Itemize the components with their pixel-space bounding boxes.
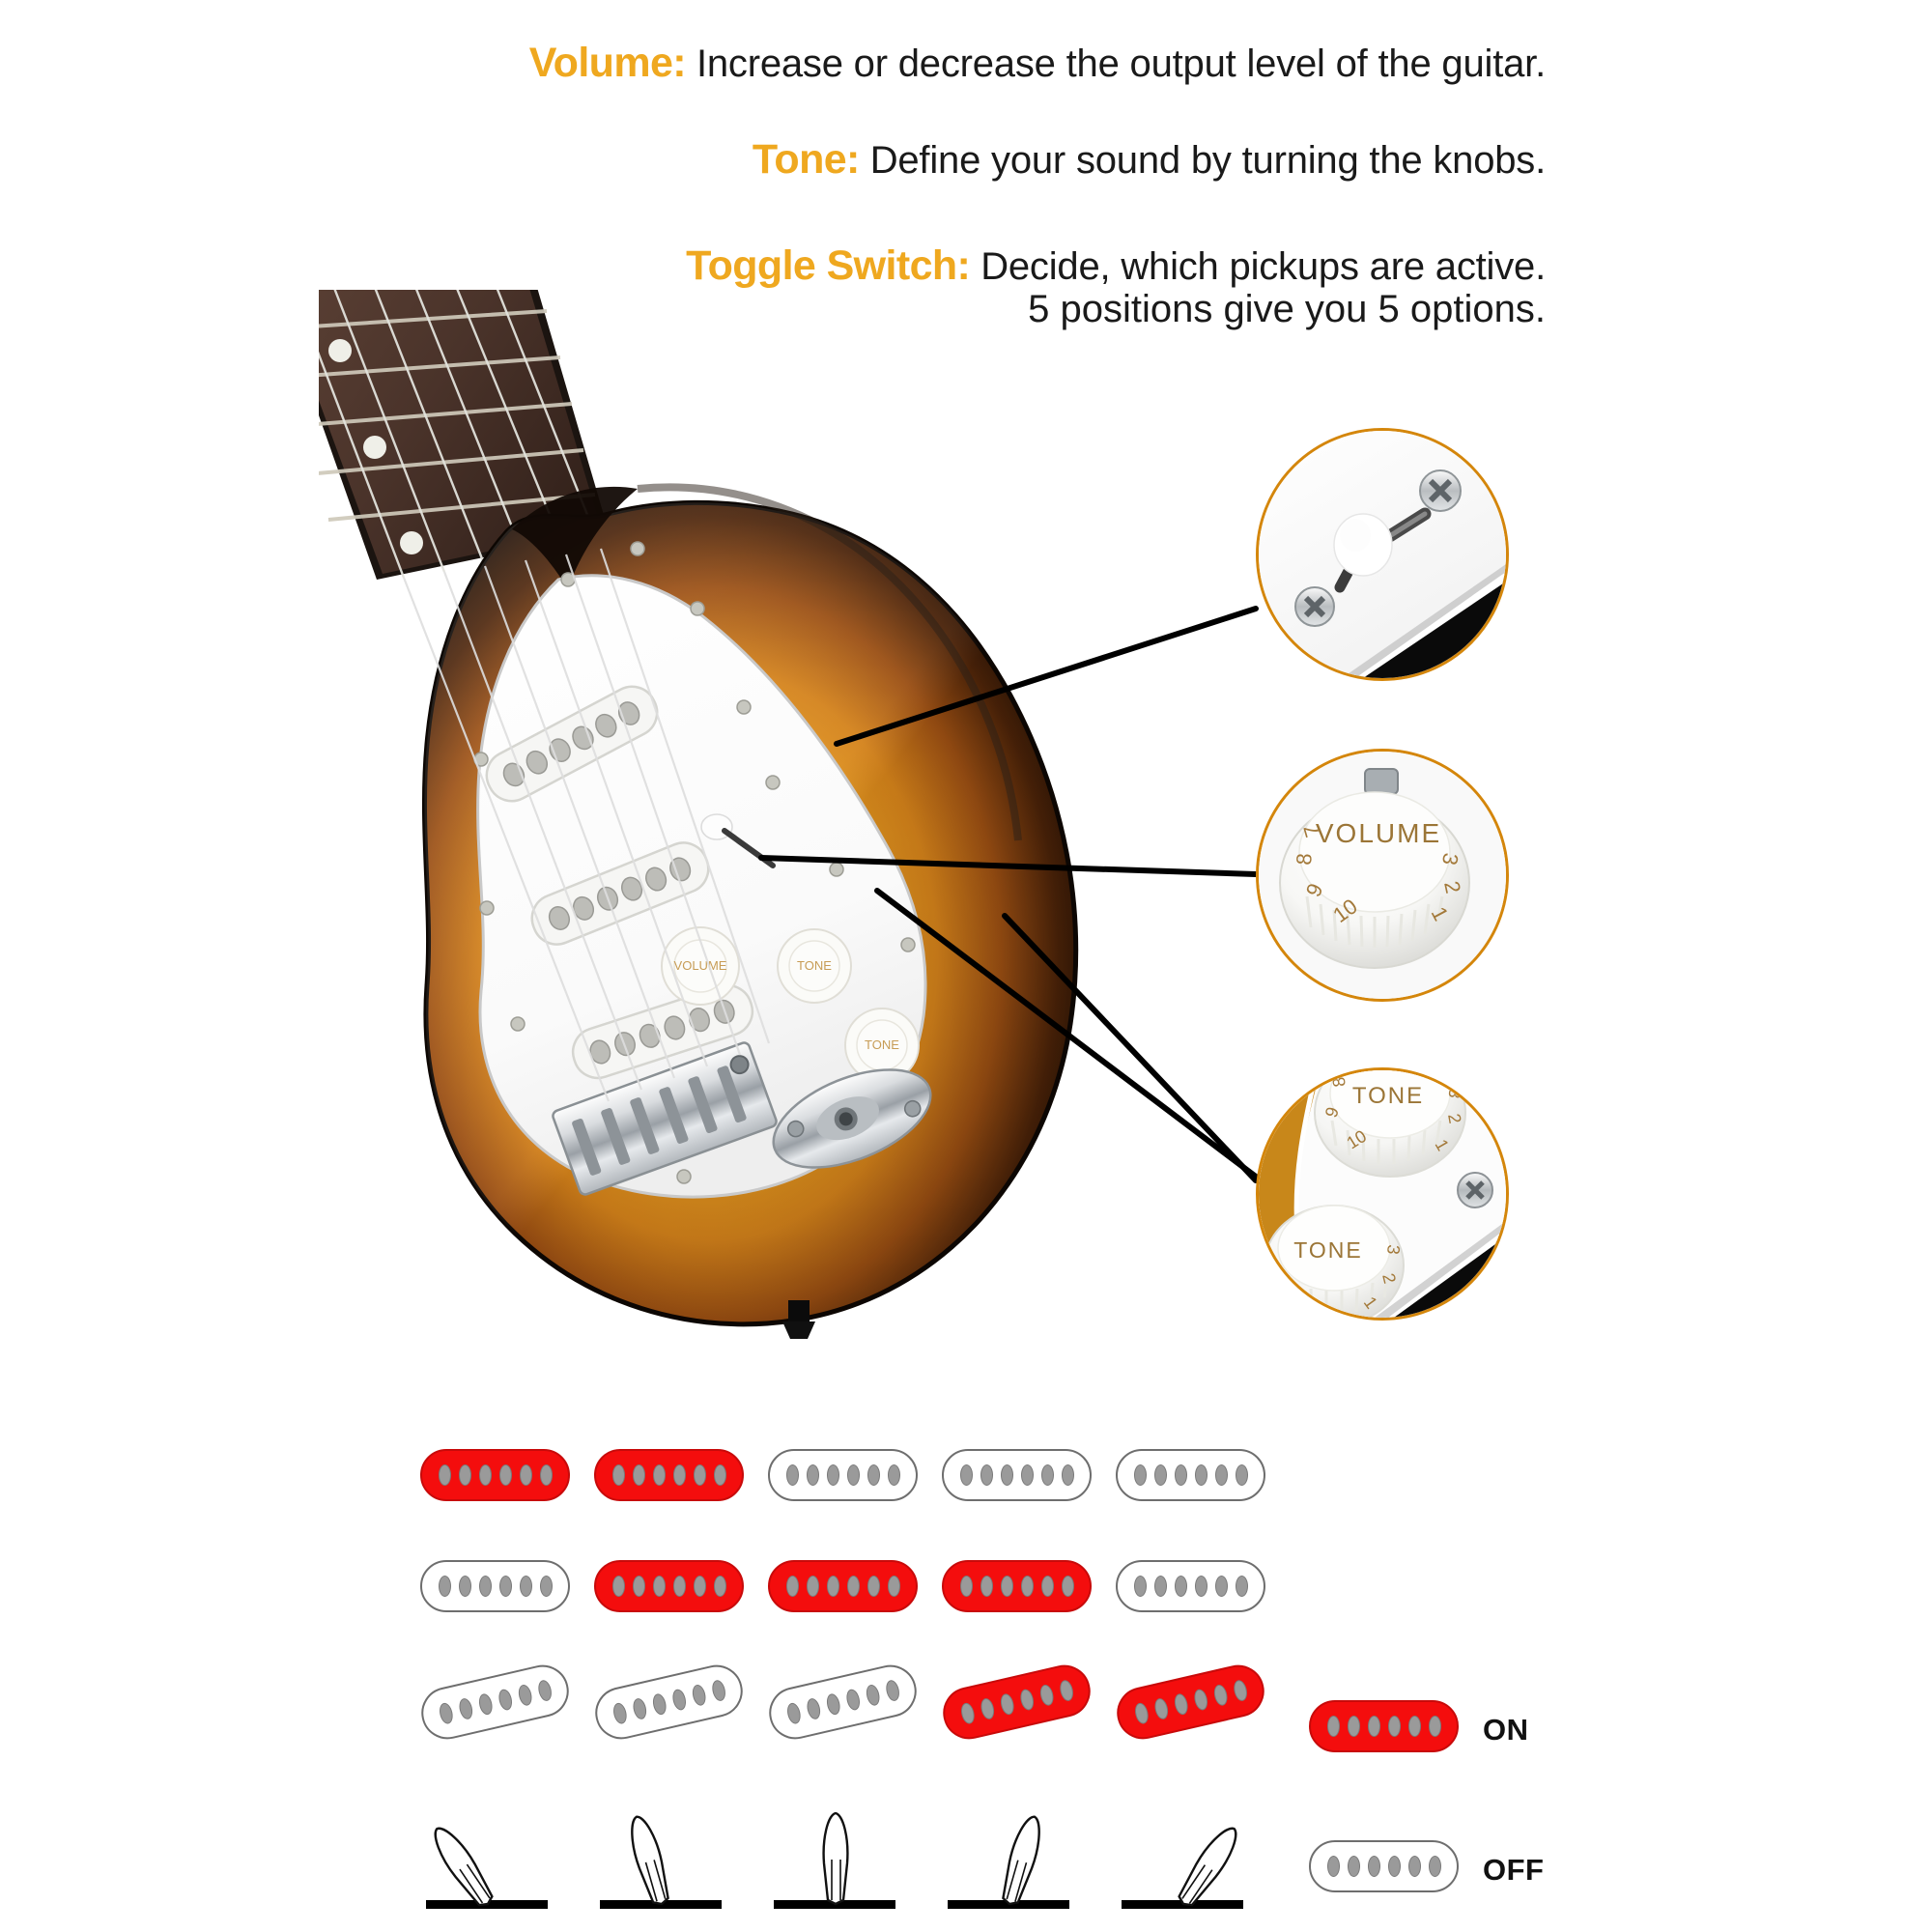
legend-label-on: ON [1483, 1713, 1529, 1747]
lever-body [1174, 1822, 1244, 1911]
pole-piece [805, 1697, 822, 1720]
pole-piece [786, 1464, 799, 1486]
pole-piece [439, 1576, 451, 1597]
pickup-row-neck [0, 1676, 1932, 1744]
pickup-middle-pickup-pos-2 [594, 1560, 744, 1612]
tone-knob-lower-label: TONE [1293, 1237, 1362, 1263]
legend-desc-toggle: Decide, which pickups are active. [980, 245, 1546, 288]
pickup-middle-pickup-pos-3 [768, 1560, 918, 1612]
guitar-tone2-label: TONE [865, 1037, 899, 1052]
pole-piece [864, 1684, 881, 1707]
pole-piece [710, 1679, 727, 1702]
pole-piece [1348, 1716, 1360, 1737]
pole-piece [1327, 1716, 1340, 1737]
tone-lower-num-3: 3 [1383, 1244, 1404, 1256]
legend-swatch-on [1309, 1700, 1459, 1752]
legend-pickup-on [1309, 1700, 1459, 1752]
legend-label-toggle: Toggle Switch: [686, 242, 970, 289]
pole-piece [612, 1464, 625, 1486]
pole-piece [844, 1688, 862, 1711]
pole-piece [1172, 1692, 1189, 1716]
pole-piece [1062, 1576, 1074, 1597]
volume-knob-label: VOLUME [1316, 818, 1441, 848]
pole-piece [960, 1464, 973, 1486]
pole-piece [1236, 1576, 1248, 1597]
pole-piece [1368, 1716, 1380, 1737]
callout-tone-knobs: TONE 1 2 3 8 9 10 [1256, 1067, 1509, 1321]
pole-piece [516, 1684, 533, 1707]
pole-piece [1037, 1684, 1055, 1707]
lever-body [625, 1813, 673, 1907]
pole-piece [631, 1697, 648, 1720]
lever-body [824, 1813, 848, 1904]
pole-piece [612, 1576, 625, 1597]
pole-piece [1215, 1576, 1228, 1597]
pole-piece [1236, 1464, 1248, 1486]
pole-piece [633, 1464, 645, 1486]
pole-piece [439, 1464, 451, 1486]
switch-lever-position-3 [756, 1792, 930, 1927]
pole-piece [959, 1702, 977, 1725]
pole-piece [459, 1464, 471, 1486]
pickup-neck-pickup-pos-1 [416, 1660, 574, 1744]
legend-line-volume: Volume: Increase or decrease the output … [0, 39, 1546, 88]
pole-piece [714, 1464, 726, 1486]
pickup-neck-pickup-pos-2 [590, 1660, 748, 1744]
pole-piece [960, 1576, 973, 1597]
pole-piece [457, 1697, 474, 1720]
legend-desc-volume: Increase or decrease the output level of… [696, 43, 1546, 85]
screw-bottom-left [1295, 587, 1334, 626]
pole-piece [847, 1464, 860, 1486]
pole-piece [1152, 1697, 1170, 1720]
pole-piece [1429, 1716, 1441, 1737]
pole-piece [1232, 1679, 1249, 1702]
pole-piece [670, 1688, 688, 1711]
switch-lever-position-4 [930, 1792, 1104, 1927]
tone-knob-upper-label: TONE [1352, 1083, 1424, 1109]
legend-label-volume: Volume: [529, 40, 686, 86]
pickup-row-bridge [0, 1449, 1932, 1517]
pole-piece [824, 1692, 841, 1716]
pole-piece [888, 1576, 900, 1597]
pole-piece [1192, 1688, 1209, 1711]
pole-piece [1018, 1688, 1036, 1711]
knob-num-8: 8 [1292, 852, 1317, 866]
pole-piece [827, 1576, 839, 1597]
legend-label-tone: Tone: [753, 136, 860, 183]
pickup-middle-pickup-pos-1 [420, 1560, 570, 1612]
switch-lever-positions [0, 1792, 1932, 1932]
pole-piece [1195, 1576, 1207, 1597]
pole-piece [847, 1576, 860, 1597]
pole-piece [1175, 1576, 1187, 1597]
pickup-middle-pickup-pos-4 [942, 1560, 1092, 1612]
pole-piece [998, 1692, 1015, 1716]
pole-piece [690, 1684, 707, 1707]
legend-desc-tone: Define your sound by turning the knobs. [870, 139, 1546, 182]
pole-piece [694, 1464, 706, 1486]
guitar-volume-label: VOLUME [674, 958, 727, 973]
pole-piece [1001, 1464, 1013, 1486]
screw-top-right [1420, 470, 1461, 511]
pole-piece [540, 1464, 553, 1486]
pole-piece [884, 1679, 901, 1702]
pickup-row-middle [0, 1560, 1932, 1628]
switch-lever-position-5 [1104, 1792, 1278, 1927]
pole-piece [1211, 1684, 1229, 1707]
pickup-neck-pickup-pos-5 [1112, 1660, 1269, 1744]
pole-piece [611, 1702, 629, 1725]
pole-piece [786, 1576, 799, 1597]
pickup-neck-pickup-pos-4 [938, 1660, 1095, 1744]
pole-piece [653, 1464, 666, 1486]
callout-toggle-switch [1256, 428, 1509, 681]
pole-piece [520, 1576, 532, 1597]
pickup-bridge-pickup-pos-4 [942, 1449, 1092, 1501]
pickup-bridge-pickup-pos-2 [594, 1449, 744, 1501]
legend-line-tone: Tone: Define your sound by turning the k… [0, 135, 1546, 185]
pole-piece [785, 1702, 803, 1725]
guitar-tone-knob-1: TONE [778, 929, 851, 1003]
pole-piece [540, 1576, 553, 1597]
pole-piece [867, 1464, 880, 1486]
pickup-middle-pickup-pos-5 [1116, 1560, 1265, 1612]
pole-piece [633, 1576, 645, 1597]
pole-piece [888, 1464, 900, 1486]
tone-knob-lower: TONE 1 2 3 [1264, 1206, 1404, 1318]
switch-lever-position-1 [409, 1792, 582, 1927]
pole-piece [520, 1464, 532, 1486]
pole-piece [459, 1576, 471, 1597]
guitar-photo: VOLUME TONE TONE [319, 290, 1169, 1372]
pole-piece [1215, 1464, 1228, 1486]
pole-piece [653, 1576, 666, 1597]
lever-body [998, 1813, 1046, 1907]
pole-piece [1134, 1576, 1147, 1597]
pole-piece [1001, 1576, 1013, 1597]
pole-piece [1388, 1716, 1401, 1737]
pole-piece [1195, 1464, 1207, 1486]
pole-piece [1021, 1576, 1034, 1597]
legend-line-toggle: Toggle Switch: Decide, which pickups are… [0, 241, 1546, 291]
pole-piece [827, 1464, 839, 1486]
screw-right [1458, 1173, 1492, 1207]
pole-piece [479, 1576, 492, 1597]
pole-piece [807, 1464, 819, 1486]
pole-piece [497, 1688, 514, 1711]
pole-piece [1062, 1464, 1074, 1486]
callout-volume-knob: VOLUME 1 2 3 7 8 9 10 [1256, 749, 1509, 1002]
guitar-tone1-label: TONE [797, 958, 832, 973]
pole-piece [979, 1697, 996, 1720]
pole-piece [673, 1576, 686, 1597]
switch-lever-position-2 [582, 1792, 756, 1927]
pole-piece [1134, 1464, 1147, 1486]
pole-piece [479, 1464, 492, 1486]
pickup-bridge-pickup-pos-3 [768, 1449, 918, 1501]
pole-piece [807, 1576, 819, 1597]
pickup-neck-pickup-pos-3 [764, 1660, 922, 1744]
pole-piece [1041, 1464, 1054, 1486]
pole-piece [1058, 1679, 1075, 1702]
pole-piece [1154, 1576, 1167, 1597]
pole-piece [536, 1679, 554, 1702]
pickup-bridge-pickup-pos-5 [1116, 1449, 1265, 1501]
pole-piece [1041, 1576, 1054, 1597]
pole-piece [1408, 1716, 1421, 1737]
pole-piece [1154, 1464, 1167, 1486]
pole-piece [438, 1702, 455, 1725]
pole-piece [980, 1464, 993, 1486]
pole-piece [1175, 1464, 1187, 1486]
lever-body [427, 1822, 497, 1911]
pole-piece [694, 1576, 706, 1597]
pole-piece [499, 1576, 512, 1597]
pole-piece [499, 1464, 512, 1486]
pole-piece [1133, 1702, 1151, 1725]
pole-piece [476, 1692, 494, 1716]
pole-piece [714, 1576, 726, 1597]
infographic-page: Volume: Increase or decrease the output … [0, 0, 1932, 1932]
pickup-bridge-pickup-pos-1 [420, 1449, 570, 1501]
pole-piece [1021, 1464, 1034, 1486]
pole-piece [867, 1576, 880, 1597]
pole-piece [650, 1692, 668, 1716]
pole-piece [980, 1576, 993, 1597]
pole-piece [673, 1464, 686, 1486]
